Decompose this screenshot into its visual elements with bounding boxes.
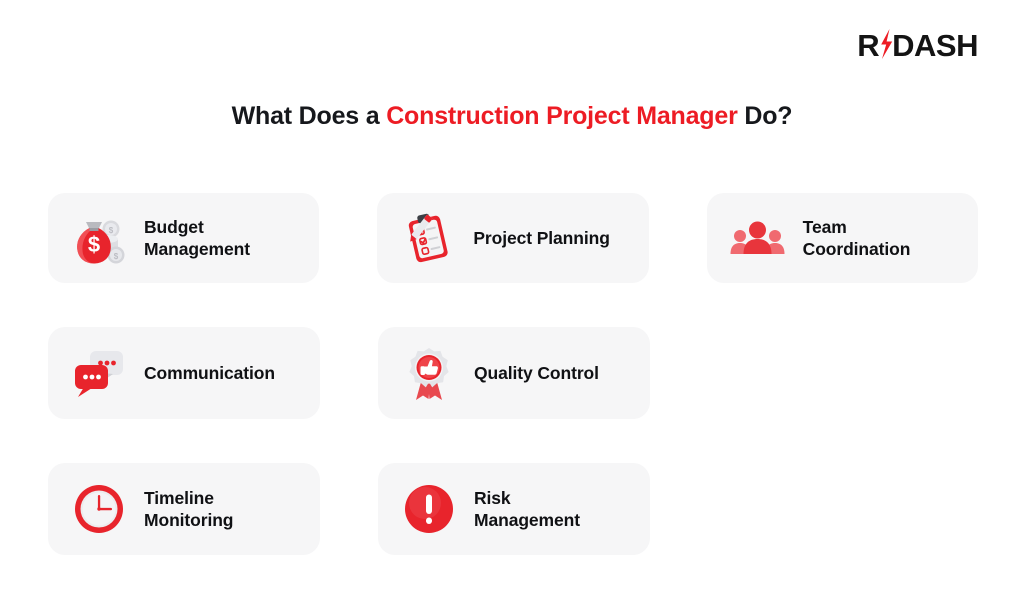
clipboard-checklist-icon bbox=[399, 209, 457, 267]
card-label: Quality Control bbox=[474, 362, 599, 384]
card-row: Communication Quality Control bbox=[48, 327, 978, 419]
title-part-after: Do? bbox=[738, 102, 793, 130]
card-risk-management[interactable]: Risk Management bbox=[378, 463, 650, 555]
card-label: Communication bbox=[144, 362, 275, 384]
lightning-bolt-icon bbox=[879, 29, 893, 59]
speech-bubbles-icon bbox=[70, 344, 128, 402]
feature-card-grid: $ $ $ Budget Management bbox=[48, 193, 978, 599]
card-communication[interactable]: Communication bbox=[48, 327, 320, 419]
quality-badge-icon bbox=[400, 344, 458, 402]
card-project-planning[interactable]: Project Planning bbox=[377, 193, 648, 283]
card-team-coordination[interactable]: Team Coordination bbox=[707, 193, 978, 283]
brand-logo: R DASH bbox=[857, 30, 978, 61]
card-label: Budget Management bbox=[144, 216, 250, 260]
title-part-before: What Does a bbox=[232, 102, 387, 130]
exclamation-circle-icon bbox=[400, 480, 458, 538]
clock-icon bbox=[70, 480, 128, 538]
logo-text-prefix: R bbox=[857, 30, 879, 61]
card-row: Timeline Monitoring Risk Management bbox=[48, 463, 978, 555]
card-label: Risk Management bbox=[474, 487, 580, 531]
logo-text-suffix: DASH bbox=[892, 30, 978, 61]
svg-text:$: $ bbox=[114, 252, 119, 261]
page-title: What Does a Construction Project Manager… bbox=[0, 101, 1024, 131]
people-group-icon bbox=[729, 209, 787, 267]
money-bag-icon: $ $ $ bbox=[70, 209, 128, 267]
svg-text:$: $ bbox=[109, 226, 114, 235]
svg-text:$: $ bbox=[88, 232, 100, 257]
card-budget-management[interactable]: $ $ $ Budget Management bbox=[48, 193, 319, 283]
card-label: Team Coordination bbox=[803, 216, 911, 260]
card-label: Timeline Monitoring bbox=[144, 487, 233, 531]
card-timeline-monitoring[interactable]: Timeline Monitoring bbox=[48, 463, 320, 555]
card-label: Project Planning bbox=[473, 227, 609, 249]
card-quality-control[interactable]: Quality Control bbox=[378, 327, 650, 419]
title-part-highlight: Construction Project Manager bbox=[386, 102, 737, 130]
card-row: $ $ $ Budget Management bbox=[48, 193, 978, 283]
